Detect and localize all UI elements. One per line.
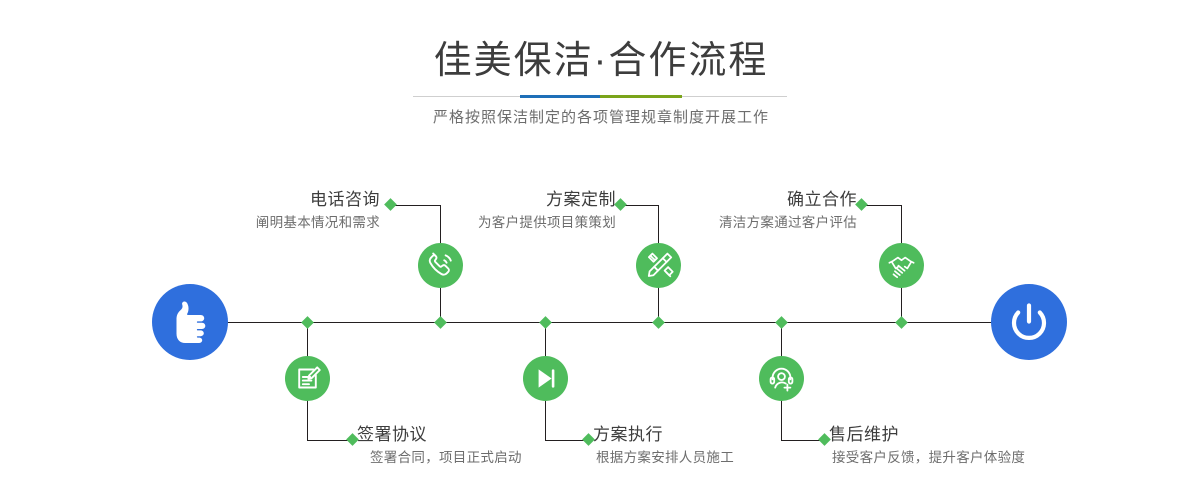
step-icon-badge[interactable] [759, 356, 804, 401]
pencil-ruler-icon [636, 243, 681, 288]
customer-service-add-icon [759, 356, 804, 401]
step-label: 确立合作 清洁方案通过客户评估 [540, 188, 857, 234]
step-icon-badge[interactable] [523, 356, 568, 401]
step-label: 售后维护 接受客户反馈，提升客户体验度 [829, 423, 1199, 469]
connector-horizontal [862, 205, 901, 206]
document-edit-icon [285, 356, 330, 401]
flow-diagram-canvas: 佳美保洁·合作流程 严格按照保洁制定的各项管理规章制度开展工作 [0, 0, 1202, 502]
axis-diamond [652, 316, 665, 329]
step-title: 售后维护 [829, 423, 1199, 447]
play-next-icon [523, 356, 568, 401]
pointing-hand-icon [152, 284, 228, 360]
step-icon-badge[interactable] [636, 243, 681, 288]
step-icon-badge[interactable] [879, 243, 924, 288]
handshake-icon [879, 243, 924, 288]
step-icon-badge[interactable] [285, 356, 330, 401]
axis-diamond [539, 316, 552, 329]
step-desc: 接受客户反馈，提升客户体验度 [829, 447, 1199, 469]
page-title: 佳美保洁·合作流程 [0, 38, 1202, 84]
divider-blue-segment [520, 95, 600, 98]
step-icon-badge[interactable] [418, 243, 463, 288]
step-desc: 清洁方案通过客户评估 [540, 212, 857, 234]
power-icon [991, 284, 1067, 360]
axis-diamond [895, 316, 908, 329]
title-divider [413, 95, 787, 98]
page-subtitle: 严格按照保洁制定的各项管理规章制度开展工作 [0, 107, 1202, 129]
connector-horizontal [307, 440, 352, 441]
flow-start-node [152, 284, 228, 360]
divider-green-segment [600, 95, 682, 98]
flow-end-node [991, 284, 1067, 360]
axis-diamond [301, 316, 314, 329]
axis-diamond [775, 316, 788, 329]
connector-diamond [855, 198, 868, 211]
phone-call-icon [418, 243, 463, 288]
step-title: 确立合作 [540, 188, 857, 212]
axis-diamond [434, 316, 447, 329]
